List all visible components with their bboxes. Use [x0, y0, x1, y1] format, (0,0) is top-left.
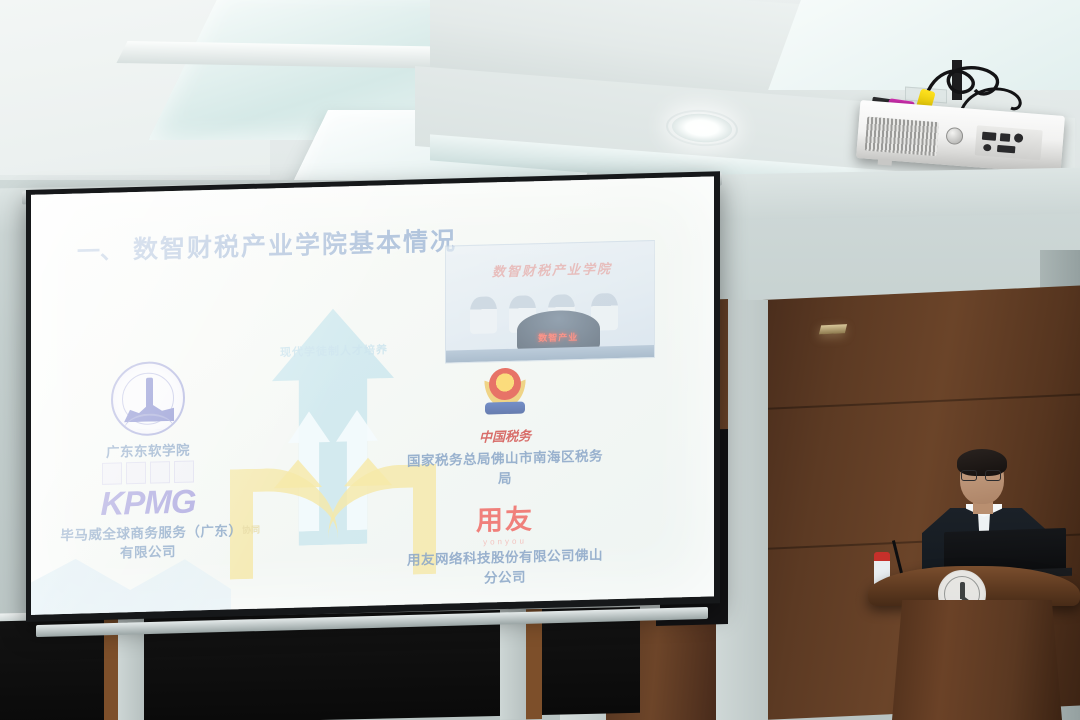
photo-led-text: 数智产业	[525, 329, 592, 346]
slide-title: 一、 数智财税产业学院基本情况	[77, 221, 457, 267]
projector-lens-icon	[945, 127, 963, 145]
arrow-label: 现代学徒制人才培养	[250, 342, 418, 362]
slide-title-text: 数智财税产业学院基本情况	[133, 221, 457, 266]
yonyou-wordmark: 用友	[405, 495, 605, 539]
arrow-tip-left	[274, 459, 322, 488]
slide-ceremony-photo: 数智财税产业学院 数智产业	[445, 240, 655, 364]
kpmg-wordmark: KPMG	[59, 481, 237, 524]
tax-bureau-emblem-icon	[475, 361, 535, 425]
podium-body	[892, 600, 1062, 720]
conference-room-scene: Mission 教育创造学生价值 Empower students with i…	[0, 0, 1080, 720]
partner-name-yonyou: 用友网络科技股份有限公司佛山分公司	[405, 545, 605, 590]
university-seal-icon	[111, 361, 185, 437]
arrow-tip-right	[344, 457, 392, 486]
projector-port-panel	[975, 125, 1043, 160]
tax-emblem-text: 中国税务	[405, 423, 605, 447]
projector-vent-grille	[865, 117, 939, 157]
partner-column-right: 中国税务 国家税务总局佛山市南海区税务局 用友 yonyou 用友网络科技股份有…	[405, 359, 605, 590]
arrow-curve-tag: 协同	[242, 523, 260, 536]
wall-sconce	[819, 324, 847, 334]
slide-title-number: 一、	[77, 231, 123, 266]
eyeglasses-icon	[961, 470, 1003, 481]
partner-name-kpmg: 毕马威全球商务服务（广东）有限公司	[59, 521, 237, 565]
presentation-slide: 一、 数智财税产业学院基本情况 数智财税产业学院 数智产业 现代学徒制	[31, 176, 714, 614]
partner-name-tax-bureau: 国家税务总局佛山市南海区税务局	[405, 446, 605, 491]
partner-column-left: 广东东软学院 KPMG 毕马威全球商务服务（广东）有限公司	[59, 359, 237, 565]
projection-screen[interactable]: 一、 数智财税产业学院基本情况 数智财税产业学院 数智产业 现代学徒制	[26, 171, 720, 622]
slide-arrow-diagram: 现代学徒制人才培养 协同	[236, 306, 431, 596]
